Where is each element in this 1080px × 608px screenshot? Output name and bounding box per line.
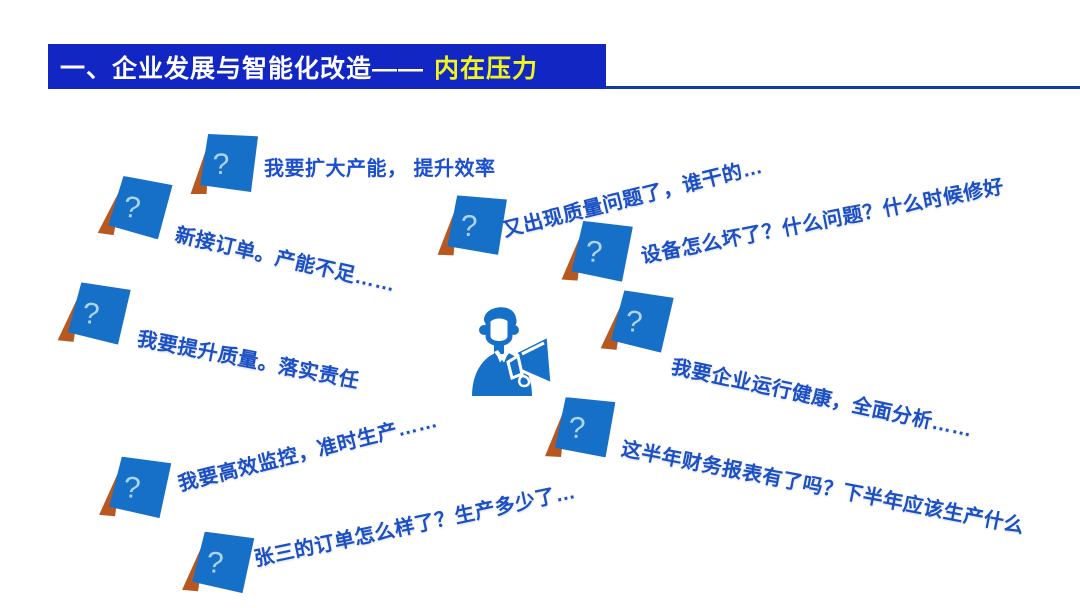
question-mark-icon: ? xyxy=(184,530,247,593)
caption-efficient-monitoring: 我要高效监控，准时生产…… xyxy=(174,404,440,497)
caption-financial-report: 这半年财务报表有了吗？下半年应该生产什么 xyxy=(619,432,1027,539)
caption-improve-quality: 我要提升质量。落实责任 xyxy=(135,322,362,393)
question-mark-icon: ? xyxy=(439,195,499,255)
question-mark-icon: ? xyxy=(59,281,123,345)
bubble-expand-capacity: ? xyxy=(192,134,258,194)
bubble-efficient-monitoring: ? xyxy=(101,455,172,521)
page-title-accent: 内在压力 xyxy=(434,49,538,85)
businessman-with-megaphone-icon xyxy=(452,292,562,402)
bubble-quality-problem-again: ? xyxy=(439,195,507,257)
bubble-improve-quality: ? xyxy=(59,281,131,348)
bubble-equipment-broken: ? xyxy=(563,220,633,284)
slide-canvas: 一、企业发展与智能化改造—— 内在压力 ? ? ? ? ? ? ? xyxy=(0,0,1080,608)
question-mark-icon: ? xyxy=(192,134,250,192)
question-mark-icon: ? xyxy=(602,289,666,353)
caption-new-orders: 新接订单。产能不足…… xyxy=(173,218,399,297)
caption-healthy-operation: 我要企业运行健康，全面分析…… xyxy=(669,350,976,442)
bubble-financial-report: ? xyxy=(546,396,615,459)
caption-zhangsan-order: 张三的订单怎么样了？生产多少了… xyxy=(251,475,578,572)
question-mark-icon: ? xyxy=(563,220,625,282)
page-title: 一、企业发展与智能化改造—— xyxy=(60,49,424,85)
bubble-healthy-operation: ? xyxy=(602,289,674,356)
title-underline-rule xyxy=(606,86,1080,89)
bubble-new-orders: ? xyxy=(99,174,173,243)
bubble-zhangsan-order: ? xyxy=(184,530,255,596)
question-mark-icon: ? xyxy=(547,396,608,457)
question-mark-icon: ? xyxy=(101,455,164,518)
caption-expand-capacity: 我要扩大产能， 提升效率 xyxy=(264,152,496,181)
slide-title-band: 一、企业发展与智能化改造—— 内在压力 xyxy=(48,44,606,89)
question-mark-icon: ? xyxy=(99,174,165,240)
